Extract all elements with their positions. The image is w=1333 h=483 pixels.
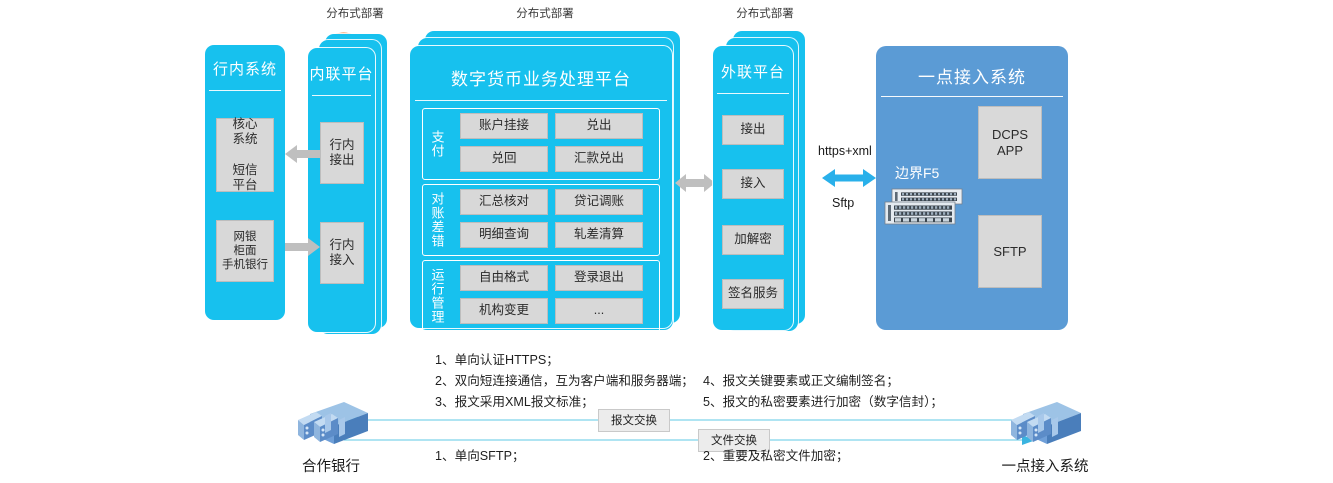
chip-core-system[interactable]: 核心 系统 短信 平台 [216,118,274,192]
group-label-payment: 支付 [427,109,447,179]
chip-egress[interactable]: 接出 [722,115,784,145]
chip-sftp-module[interactable]: SFTP [978,215,1042,288]
note-upper-left-2: 2、双向短连接通信，互为客户端和服务器端； [435,372,694,392]
note-upper-right-5: 5、报文的私密要素进行加密（数字信封）； [703,393,943,413]
arrow-intranet-to-inbank [285,145,320,163]
card-intranet-platform[interactable]: 内联平台 [308,48,375,332]
file-exchange-line [340,432,1040,448]
label-partner-bank: 合作银行 [276,455,386,476]
chip-ebank-counter-mobile[interactable]: 网银 柜面 手机银行 [216,220,274,282]
note-lower-left-1: 1、单向SFTP； [435,447,525,467]
label-single-access-system-bottom: 一点接入系统 [990,455,1100,476]
note-upper-right-4: 4、报文关键要素或正文编制签名； [703,372,899,392]
chip-detail-query[interactable]: 明细查询 [460,222,548,248]
chip-redeem-back[interactable]: 兑回 [460,146,548,172]
chip-redeem-out[interactable]: 兑出 [555,113,643,139]
card-dcep-platform[interactable]: 数字货币业务处理平台 支付 账户挂接 兑出 兑回 汇款兑出 对账差错 汇总核对 … [410,46,672,328]
chip-summary-check[interactable]: 汇总核对 [460,189,548,215]
card-title-single-access-system: 一点接入系统 [876,63,1068,88]
chip-ingress[interactable]: 接入 [722,169,784,199]
divider-inbank [209,90,281,91]
group-label-operations: 运行管理 [427,261,447,331]
chip-dcps-app[interactable]: DCPS APP [978,106,1042,179]
network-switch-icon [884,188,966,226]
message-exchange-line [340,412,1040,428]
divider-intranet [312,95,371,96]
chip-more[interactable]: ... [555,298,643,324]
chip-inbank-ingress[interactable]: 行内 接入 [320,222,364,284]
arrow-inbank-to-intranet [285,238,320,256]
deploy-label-dcep: 分布式部署 [495,5,595,21]
chip-free-format[interactable]: 自由格式 [460,265,548,291]
server-stack-icon-partner-bank [292,400,370,448]
card-title-inbank-system: 行内系统 [205,58,285,79]
chip-encrypt-decrypt[interactable]: 加解密 [722,225,784,255]
diagram-canvas: 分布式部署 分布式部署 分布式部署 行内系统 核心 系统 短信 平台 网银 柜面… [0,0,1333,483]
divider-dcep [415,100,667,101]
chip-inbank-egress[interactable]: 行内 接出 [320,122,364,184]
chip-signature-service[interactable]: 签名服务 [722,279,784,309]
label-https-xml: https+xml [818,144,872,158]
note-lower-right-2: 2、重要及私密文件加密； [703,447,849,467]
tag-message-exchange: 报文交换 [598,409,670,432]
deploy-label-extranet: 分布式部署 [715,5,815,21]
chip-credit-adjust[interactable]: 贷记调账 [555,189,643,215]
double-arrow-icon-protocol [822,167,876,189]
card-title-dcep-platform: 数字货币业务处理平台 [410,65,672,90]
chip-account-link[interactable]: 账户挂接 [460,113,548,139]
chip-org-change[interactable]: 机构变更 [460,298,548,324]
card-title-extranet-platform: 外联平台 [713,61,793,82]
chip-remittance-out[interactable]: 汇款兑出 [555,146,643,172]
divider-extranet [717,93,789,94]
divider-single-access [881,96,1063,97]
note-upper-left-1: 1、单向认证HTTPS； [435,351,559,371]
label-sftp-protocol: Sftp [832,196,854,210]
arrow-dcep-extranet-bidirectional [675,173,715,193]
card-title-intranet-platform: 内联平台 [308,63,375,84]
server-stack-icon-single-access [1005,400,1083,448]
group-label-reconciliation: 对账差错 [427,185,447,255]
deploy-label-intranet: 分布式部署 [305,5,405,21]
note-upper-left-3: 3、报文采用XML报文标准； [435,393,594,413]
chip-netting-settle[interactable]: 轧差清算 [555,222,643,248]
chip-login-logout[interactable]: 登录退出 [555,265,643,291]
label-boundary-f5: 边界F5 [895,163,939,183]
